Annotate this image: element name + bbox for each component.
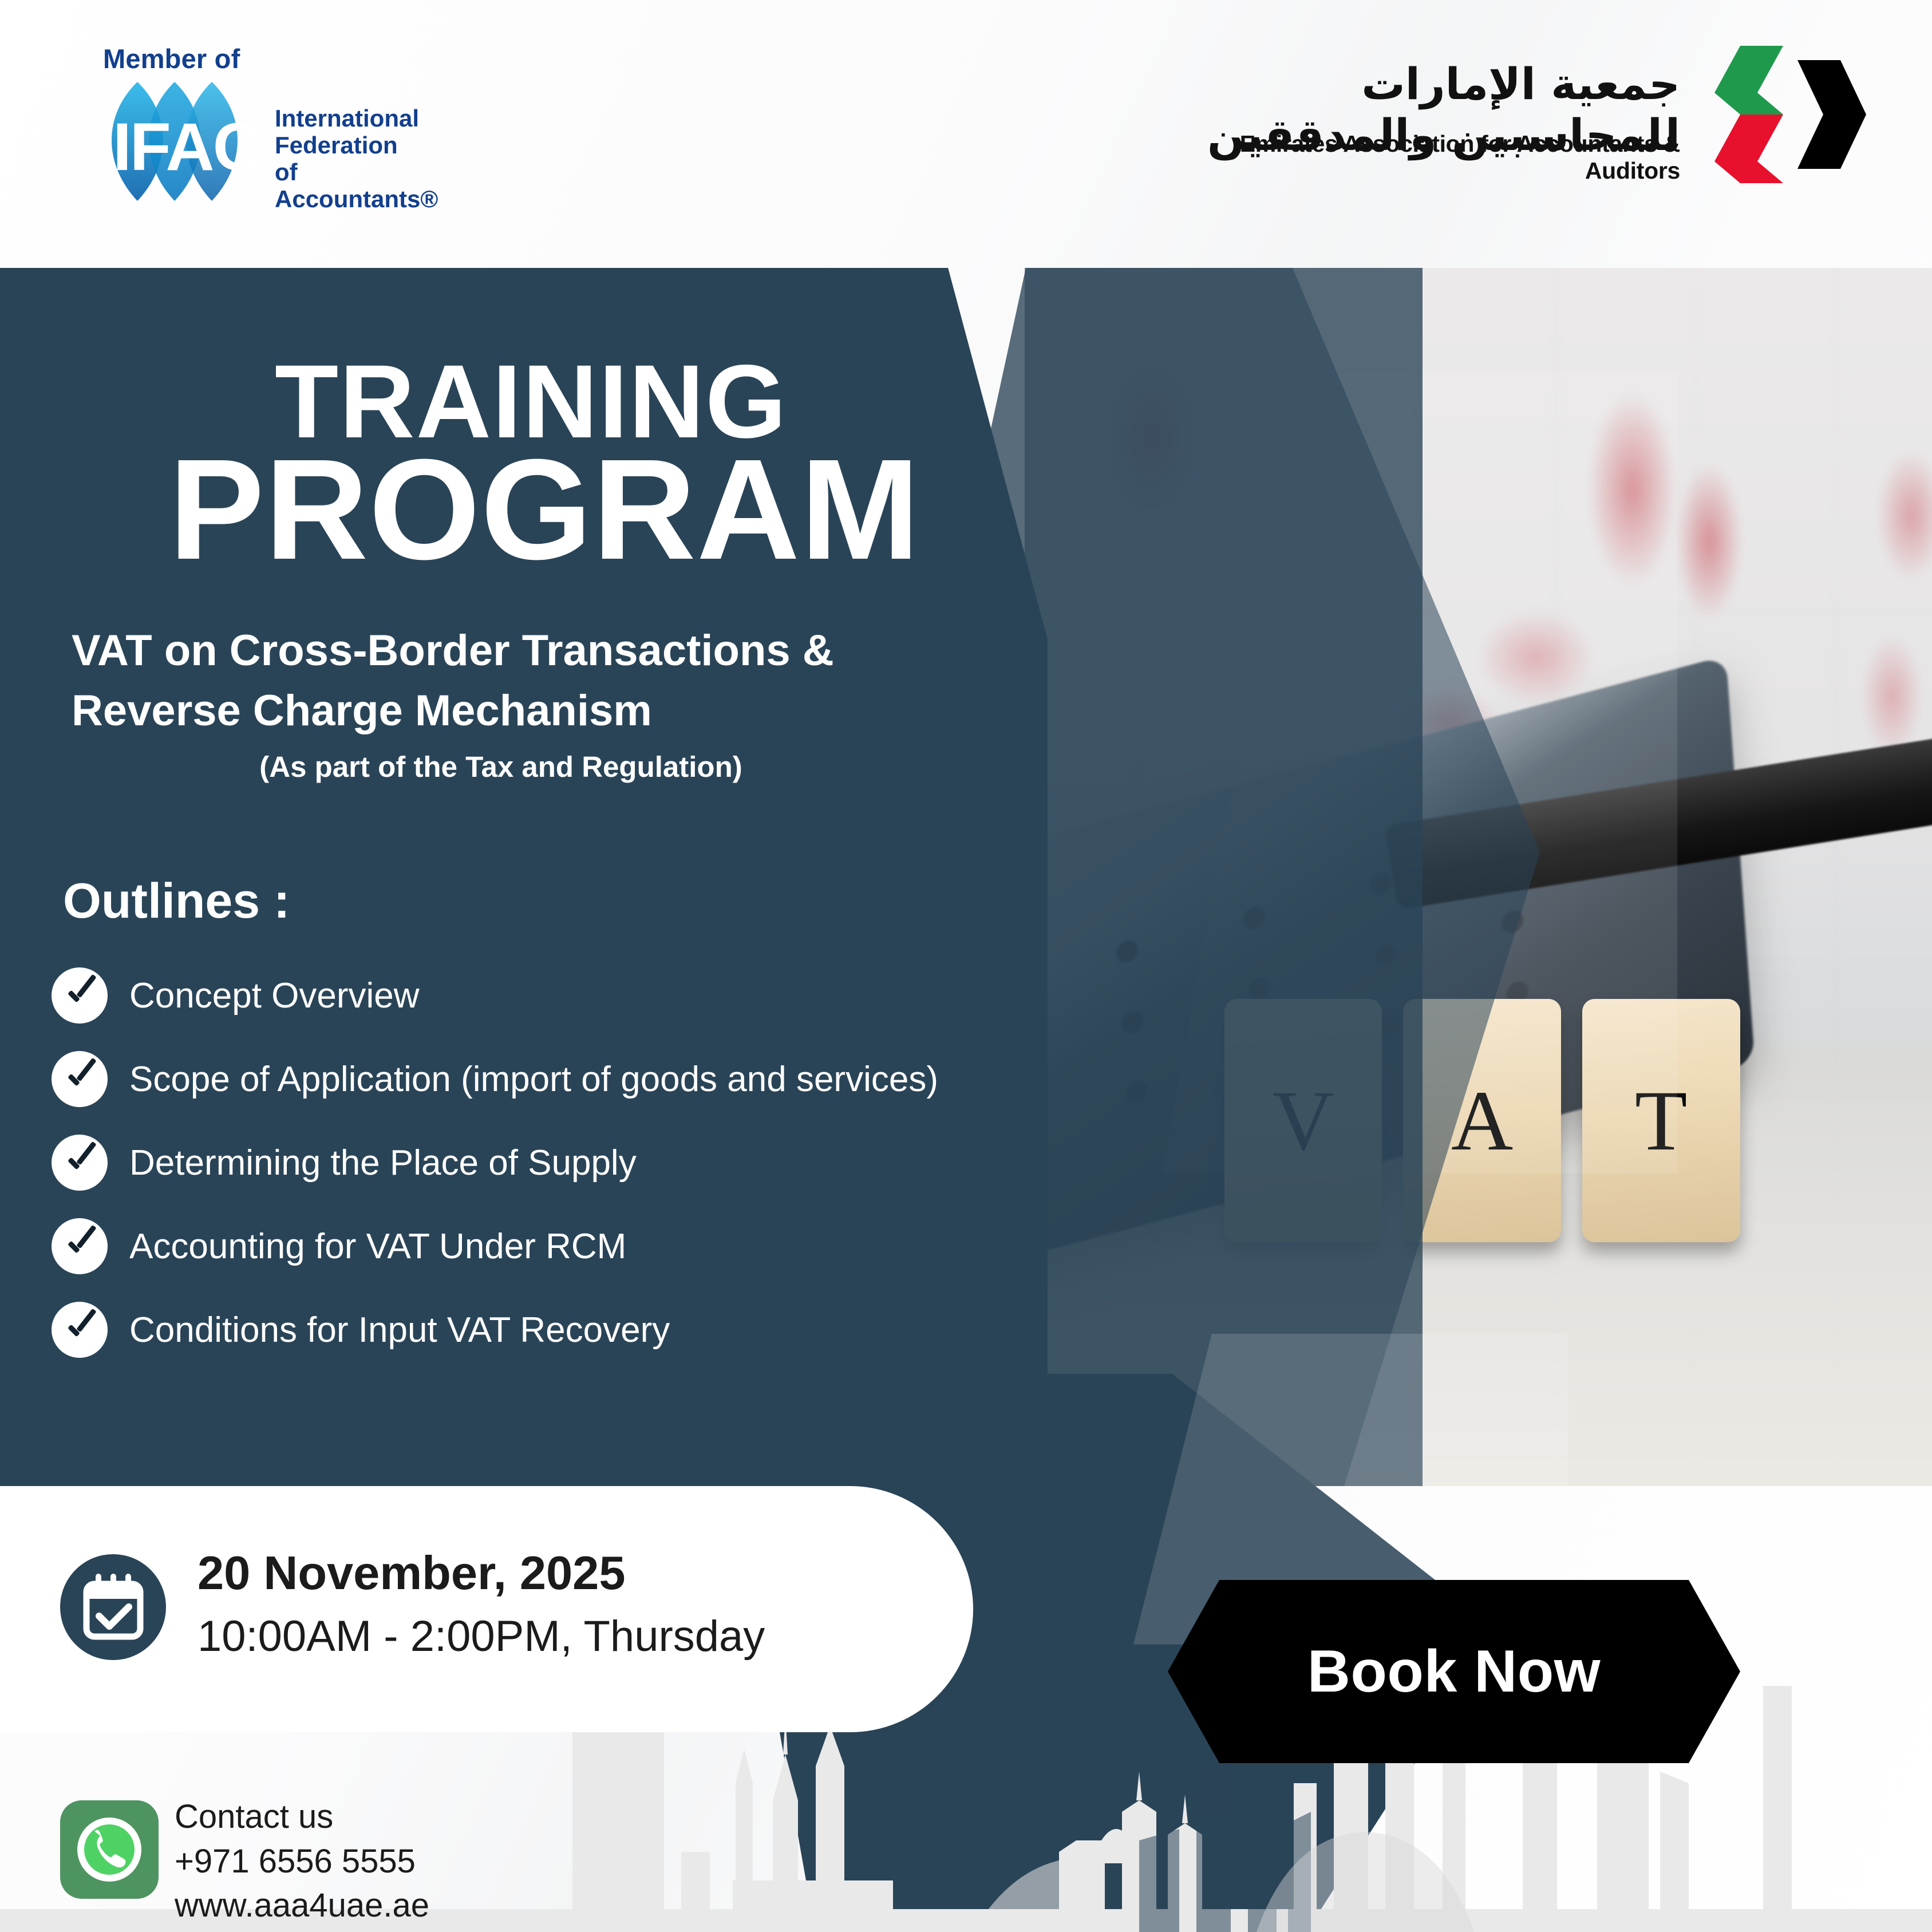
check-circle-icon: [52, 1218, 108, 1274]
contact-block: Contact us +971 6556 5555 www.aaa4uae.ae: [175, 1795, 429, 1928]
check-circle-icon: [52, 1051, 108, 1107]
outline-label: Concept Overview: [129, 975, 420, 1016]
list-item: Determining the Place of Supply: [52, 1135, 1013, 1191]
hero-subtitle: VAT on Cross-Border Transactions & Rever…: [72, 621, 999, 741]
check-circle-icon: [52, 1135, 108, 1191]
ifac-acronym: IFAC: [113, 108, 260, 186]
ifac-mark-icon: IFAC: [86, 78, 263, 204]
whatsapp-icon[interactable]: [60, 1800, 159, 1899]
list-item: Conditions for Input VAT Recovery: [52, 1302, 1013, 1358]
ifac-member-of-label: Member of: [103, 43, 240, 74]
outline-label: Determining the Place of Supply: [129, 1143, 637, 1183]
ifac-fullname-line3: of Accountants®: [275, 159, 452, 212]
list-item: Scope of Application (import of goods an…: [52, 1051, 1013, 1107]
ifac-fullname-line1: International: [275, 105, 452, 132]
outlines-heading: Outlines :: [63, 873, 290, 930]
outline-label: Accounting for VAT Under RCM: [129, 1226, 626, 1267]
contact-website[interactable]: www.aaa4uae.ae: [175, 1883, 429, 1928]
calendar-check-icon: [60, 1554, 166, 1660]
check-circle-icon: [52, 1302, 108, 1358]
poster-canvas: V A T: [0, 0, 1932, 1932]
book-now-label: Book Now: [1307, 1638, 1601, 1706]
outlines-list: Concept Overview Scope of Application (i…: [52, 967, 1013, 1385]
ifac-fullname: International Federation of Accountants®: [275, 105, 452, 212]
page-title-line2: PROGRAM: [169, 438, 920, 581]
association-name-english: Emirates Association for Accountants & A…: [1199, 131, 1680, 184]
hero-subnote: (As part of the Tax and Regulation): [72, 750, 930, 784]
contact-phone[interactable]: +971 6556 5555: [175, 1839, 429, 1884]
event-time: 10:00AM - 2:00PM, Thursday: [197, 1611, 765, 1661]
list-item: Accounting for VAT Under RCM: [52, 1218, 1013, 1274]
outline-label: Conditions for Input VAT Recovery: [129, 1310, 670, 1350]
check-circle-icon: [52, 967, 108, 1024]
ifac-fullname-line2: Federation: [275, 132, 452, 159]
contact-label: Contact us: [175, 1795, 429, 1839]
ifac-logo: Member of IFAC International Federatio: [86, 43, 452, 209]
association-logo: جمعية الإمارات للمحاسبين والمدققين Emira…: [1176, 63, 1869, 195]
event-date: 20 November, 2025: [197, 1546, 626, 1601]
hero-subtitle-line2: Reverse Charge Mechanism: [72, 681, 999, 741]
list-item: Concept Overview: [52, 967, 1013, 1024]
association-chevron-mark-icon: [1697, 40, 1869, 189]
outline-label: Scope of Application (import of goods an…: [129, 1059, 938, 1100]
book-now-button[interactable]: Book Now: [1168, 1580, 1740, 1763]
hero-subtitle-line1: VAT on Cross-Border Transactions &: [72, 621, 999, 681]
